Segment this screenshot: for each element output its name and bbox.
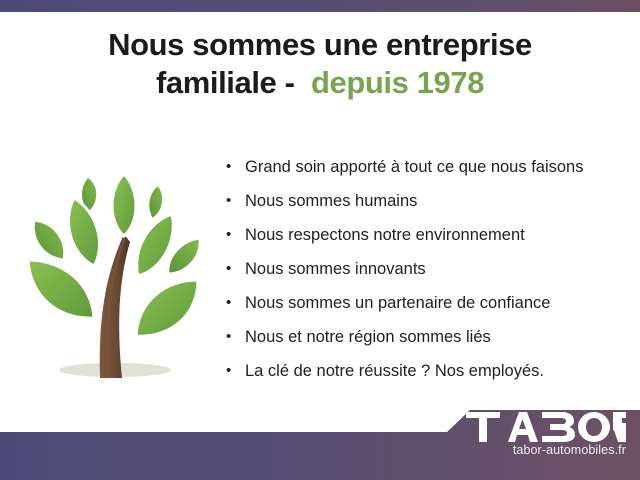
leaf <box>33 220 65 260</box>
logo-subtitle: tabor-automobiles.fr <box>456 443 626 457</box>
leaf <box>136 280 198 336</box>
list-item: Nous respectons notre environnement <box>226 218 626 252</box>
page-title: Nous sommes une entreprise familiale - d… <box>0 26 640 102</box>
list-item: Nous et notre région sommes liés <box>226 320 626 354</box>
leaf <box>112 174 136 236</box>
leaf <box>28 260 94 318</box>
tree-trunk <box>100 234 130 378</box>
list-item: La clé de notre réussite ? Nos employés. <box>226 354 626 388</box>
list-item: Grand soin apporté à tout ce que nous fa… <box>226 150 626 184</box>
leaf <box>168 238 200 274</box>
list-item: Nous sommes un partenaire de confiance <box>226 286 626 320</box>
list-item: Nous sommes innovants <box>226 252 626 286</box>
title-line-2: familiale - depuis 1978 <box>0 64 640 102</box>
tabor-wordmark-icon <box>466 412 626 442</box>
title-accent-since-1978: depuis 1978 <box>311 65 484 100</box>
list-item: Nous sommes humains <box>226 184 626 218</box>
tree-icon <box>12 142 217 387</box>
title-line-1: Nous sommes une entreprise <box>0 26 640 64</box>
top-accent-bar <box>0 0 640 12</box>
leaf <box>148 184 164 220</box>
value-proposition-list: Grand soin apporté à tout ce que nous fa… <box>226 150 626 388</box>
tabor-logo[interactable]: tabor-automobiles.fr <box>456 412 626 457</box>
title-line-2-prefix: familiale - <box>156 65 311 100</box>
